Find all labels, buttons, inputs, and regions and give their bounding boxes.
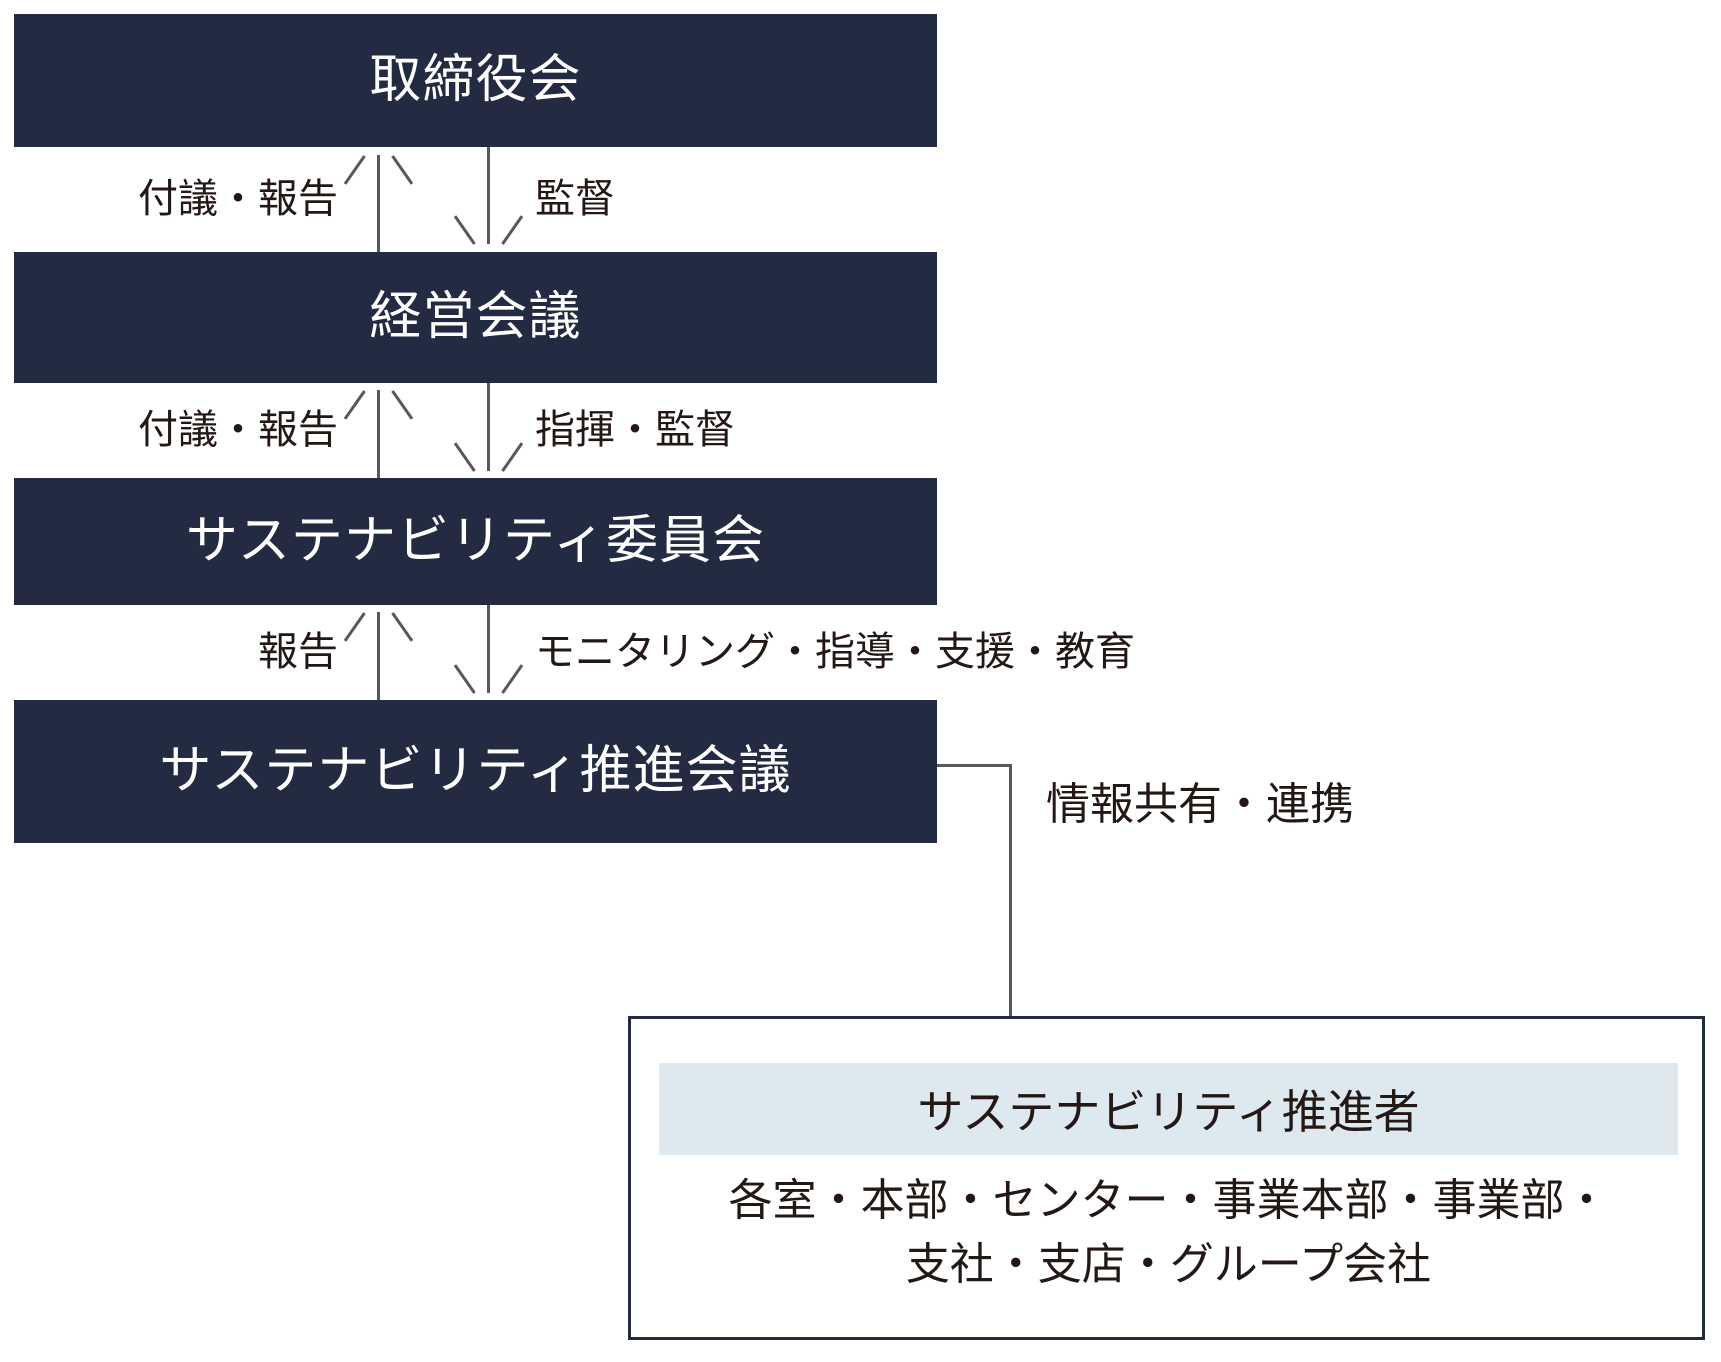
org-chart-diagram: 取締役会 付議・報告 監督 経営会議 付議・報告 指揮・監督 サステナビリティ委… bbox=[0, 0, 1721, 1362]
flow3-down-head-left bbox=[454, 664, 476, 694]
flow1-up-stem bbox=[377, 155, 380, 252]
flow1-up-head-right bbox=[391, 155, 413, 185]
flow2-up-label: 付議・報告 bbox=[88, 410, 338, 450]
flow1-down-head-right bbox=[501, 215, 523, 245]
connector-vertical-segment bbox=[1009, 764, 1012, 1018]
promoter-panel-heading-label: サステナビリティ推進者 bbox=[917, 1076, 1419, 1142]
flow-management-committee: 付議・報告 指揮・監督 bbox=[0, 383, 1721, 478]
flow3-up-head-left bbox=[344, 612, 366, 642]
flow2-down-head-left bbox=[454, 442, 476, 472]
flow1-down-stem bbox=[487, 147, 490, 244]
flow3-down-label: モニタリング・指導・支援・教育 bbox=[535, 632, 1135, 672]
flow2-down-label: 指揮・監督 bbox=[535, 410, 735, 450]
flow-board-management: 付議・報告 監督 bbox=[0, 147, 1721, 252]
connector-label: 情報共有・連携 bbox=[1046, 768, 1354, 832]
node-management: 経営会議 bbox=[14, 252, 937, 383]
promoter-panel-line-2: 支社・支店・グループ会社 bbox=[659, 1233, 1678, 1297]
promoter-panel: サステナビリティ推進者 各室・本部・センター・事業本部・事業部・ 支社・支店・グ… bbox=[628, 1016, 1705, 1340]
flow3-up-head-right bbox=[391, 612, 413, 642]
flow3-down-stem bbox=[487, 605, 490, 693]
flow-committee-promotion: 報告 モニタリング・指導・支援・教育 bbox=[0, 605, 1721, 700]
node-committee-label: サステナビリティ委員会 bbox=[186, 513, 765, 570]
node-committee: サステナビリティ委員会 bbox=[14, 478, 937, 605]
flow3-up-stem bbox=[377, 612, 380, 700]
flow1-down-label: 監督 bbox=[535, 179, 615, 219]
flow1-up-label: 付議・報告 bbox=[88, 179, 338, 219]
flow2-up-head-right bbox=[391, 390, 413, 420]
flow1-down-head-left bbox=[454, 215, 476, 245]
flow3-up-label: 報告 bbox=[180, 632, 338, 672]
connector-horizontal-segment bbox=[937, 764, 1012, 767]
flow2-up-stem bbox=[377, 390, 380, 478]
flow2-down-head-right bbox=[501, 442, 523, 472]
flow2-down-stem bbox=[487, 383, 490, 471]
node-board-label: 取締役会 bbox=[369, 52, 581, 109]
promoter-panel-heading: サステナビリティ推進者 bbox=[659, 1063, 1678, 1155]
flow2-up-head-left bbox=[344, 390, 366, 420]
node-board: 取締役会 bbox=[14, 14, 937, 147]
promoter-panel-line-1: 各室・本部・センター・事業本部・事業部・ bbox=[659, 1169, 1678, 1233]
node-promotion: サステナビリティ推進会議 bbox=[14, 700, 937, 843]
flow1-up-head-left bbox=[344, 155, 366, 185]
node-management-label: 経営会議 bbox=[369, 289, 581, 346]
flow3-down-head-right bbox=[501, 664, 523, 694]
promoter-panel-body: 各室・本部・センター・事業本部・事業部・ 支社・支店・グループ会社 bbox=[659, 1169, 1678, 1297]
node-promotion-label: サステナビリティ推進会議 bbox=[159, 743, 791, 800]
